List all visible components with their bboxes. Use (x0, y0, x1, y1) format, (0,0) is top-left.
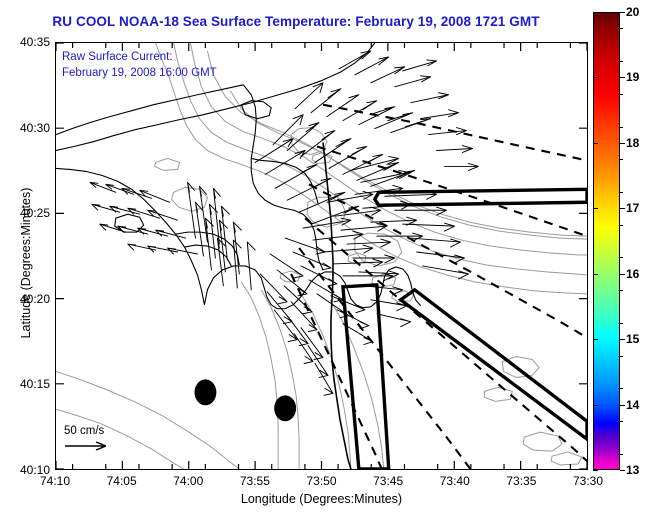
x-tick-label: 74:00 (173, 474, 203, 488)
colorbar-minor-tick (620, 454, 623, 455)
station-marker (194, 379, 216, 405)
vector-scale-key: 50 cm/s (64, 425, 110, 455)
colorbar-minor-tick (620, 421, 623, 422)
colorbar-tick (620, 405, 625, 406)
colorbar-minor-tick (620, 94, 623, 95)
colorbar-tick-label: 19 (626, 70, 639, 84)
y-tick-label: 40:30 (20, 121, 50, 135)
colorbar-tick-inner (593, 274, 598, 275)
x-tick-label: 73:45 (373, 474, 403, 488)
scale-key-label: 50 cm/s (64, 425, 110, 437)
page-title: RU COOL NOAA-18 Sea Surface Temperature:… (0, 14, 592, 29)
station-marker (274, 395, 296, 421)
colorbar-gradient (593, 12, 620, 470)
colorbar-tick (620, 143, 625, 144)
colorbar-tick-label: 16 (626, 267, 639, 281)
colorbar-tick (620, 208, 625, 209)
y-axis-title: Latitude (Degrees:Minutes) (19, 153, 33, 373)
bathymetry-contours (56, 43, 587, 469)
colorbar-tick (620, 339, 625, 340)
colorbar-minor-tick (620, 257, 623, 258)
colorbar-tick (620, 77, 625, 78)
colorbar-minor-tick (620, 159, 623, 160)
survey-box-outlines (343, 189, 587, 469)
colorbar-minor-tick (620, 323, 623, 324)
x-tick-label: 73:50 (306, 474, 336, 488)
colorbar-tick-label: 14 (626, 398, 639, 412)
colorbar-minor-tick (620, 290, 623, 291)
colorbar-tick-label: 18 (626, 136, 639, 150)
colorbar-minor-tick (620, 356, 623, 357)
y-tick-label: 40:10 (20, 463, 50, 477)
colorbar-tick (620, 12, 625, 13)
right-arrow-icon (64, 440, 110, 455)
x-tick-label: 73:55 (240, 474, 270, 488)
colorbar-tick-label: 13 (626, 463, 639, 477)
x-tick-label: 73:30 (573, 474, 603, 488)
colorbar-minor-tick (620, 127, 623, 128)
map-plot-area: Raw Surface Current: February 19, 2008 1… (55, 42, 588, 470)
colorbar-tick-inner (593, 143, 598, 144)
y-tick-label: 40:35 (20, 35, 50, 49)
colorbar-tick (620, 274, 625, 275)
colorbar-tick-label: 15 (626, 332, 639, 346)
x-axis-title: Longitude (Degrees:Minutes) (55, 492, 588, 506)
colorbar-minor-tick (620, 28, 623, 29)
y-tick-label: 40:15 (20, 377, 50, 391)
colorbar-tick-inner (593, 12, 598, 13)
colorbar-tick (620, 470, 625, 471)
colorbar-tick-inner (593, 405, 598, 406)
map-canvas (56, 43, 587, 469)
dashed-radial-transects (291, 105, 587, 469)
colorbar-minor-tick (620, 388, 623, 389)
colorbar-tick-inner (593, 208, 598, 209)
colorbar (593, 12, 620, 470)
scale-arrow-svg (64, 440, 110, 452)
x-tick-label: 74:05 (107, 474, 137, 488)
colorbar-tick-label: 17 (626, 201, 639, 215)
colorbar-minor-tick (620, 192, 623, 193)
colorbar-tick-label: 20 (626, 5, 639, 19)
x-tick-label: 73:35 (506, 474, 536, 488)
colorbar-tick-inner (593, 470, 598, 471)
x-tick-label: 73:40 (440, 474, 470, 488)
station-markers (194, 379, 296, 421)
colorbar-minor-tick (620, 61, 623, 62)
colorbar-tick-inner (593, 339, 598, 340)
colorbar-minor-tick (620, 225, 623, 226)
colorbar-tick-inner (593, 77, 598, 78)
